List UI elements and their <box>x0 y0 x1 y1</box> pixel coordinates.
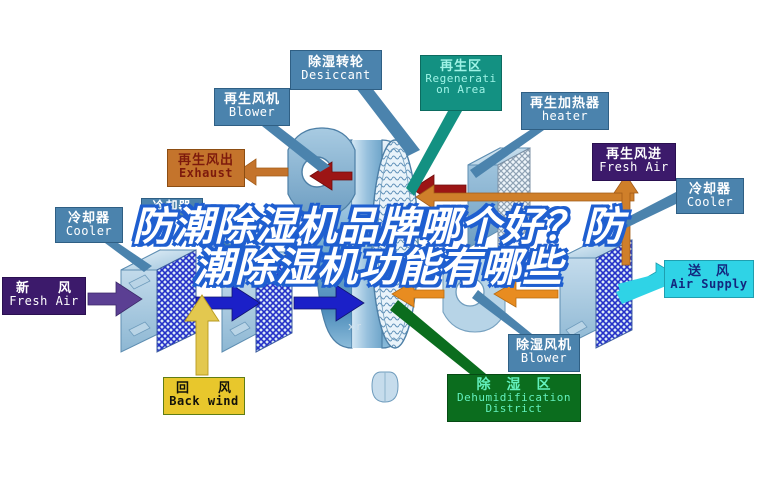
label-back-wind-cn: 回 风 <box>164 381 244 395</box>
label-desiccant[interactable]: 除湿转轮 Desiccant <box>290 50 382 90</box>
label-cooler-left[interactable]: 冷却器 Cooler <box>55 207 123 243</box>
label-regeneration-area-cn: 再生区 <box>421 59 501 73</box>
label-regen-blower-en: Blower <box>215 106 289 119</box>
svg-text:xr: xr <box>348 320 363 333</box>
label-dehum-blower-en: Blower <box>509 352 579 365</box>
label-desiccant-en: Desiccant <box>291 69 381 82</box>
label-fresh-air-in[interactable]: 新 风 Fresh Air <box>2 277 86 315</box>
label-fresh-air-in-cn: 新 风 <box>3 281 85 295</box>
label-back-wind-en: Back wind <box>164 395 244 408</box>
label-dehumidification-district-en2: District <box>448 403 580 415</box>
label-dehumidification-district-cn: 除 湿 区 <box>448 377 580 392</box>
label-regen-blower[interactable]: 再生风机 Blower <box>214 88 290 126</box>
label-fresh-air-in-en: Fresh Air <box>3 295 85 308</box>
label-air-supply-en: Air Supply <box>665 278 753 291</box>
label-cooler-right[interactable]: 冷却器 Cooler <box>676 178 744 214</box>
dehum-blower-unit <box>443 252 505 332</box>
label-cooler-mid-cn: 冷却器 <box>142 200 202 213</box>
label-air-supply-cn: 送 风 <box>665 264 753 278</box>
label-cooler-right-en: Cooler <box>677 196 743 209</box>
label-cooler-left-cn: 冷却器 <box>56 211 122 225</box>
label-dehum-blower[interactable]: 除湿风机 Blower <box>508 334 580 372</box>
label-exhaust-en: Exhaust <box>168 167 244 180</box>
label-regeneration-area[interactable]: 再生区 Regenerati on Area <box>420 55 502 111</box>
label-back-wind[interactable]: 回 风 Back wind <box>163 377 245 415</box>
label-air-supply[interactable]: 送 风 Air Supply <box>664 260 754 298</box>
label-dehumidification-district[interactable]: 除 湿 区 Dehumidification District <box>447 374 581 422</box>
label-regen-blower-cn: 再生风机 <box>215 92 289 106</box>
label-cooler-left-en: Cooler <box>56 225 122 238</box>
label-regeneration-area-en2: on Area <box>421 84 501 96</box>
label-desiccant-cn: 除湿转轮 <box>291 55 381 69</box>
label-cooler-right-cn: 冷却器 <box>677 182 743 196</box>
label-regen-fresh-air[interactable]: 再生风进 Fresh Air <box>592 143 676 181</box>
label-cooler-mid[interactable]: 冷却器 <box>141 198 203 218</box>
label-regen-heater[interactable]: 再生加热器 heater <box>521 92 609 130</box>
label-exhaust-cn: 再生风出 <box>168 153 244 167</box>
label-regen-heater-en: heater <box>522 110 608 123</box>
label-regen-fresh-air-en: Fresh Air <box>593 161 675 174</box>
label-regen-heater-cn: 再生加热器 <box>522 96 608 110</box>
diagram-canvas: xr <box>0 0 757 488</box>
label-regen-fresh-air-cn: 再生风进 <box>593 147 675 161</box>
label-dehum-blower-cn: 除湿风机 <box>509 338 579 352</box>
label-exhaust[interactable]: 再生风出 Exhaust <box>167 149 245 187</box>
